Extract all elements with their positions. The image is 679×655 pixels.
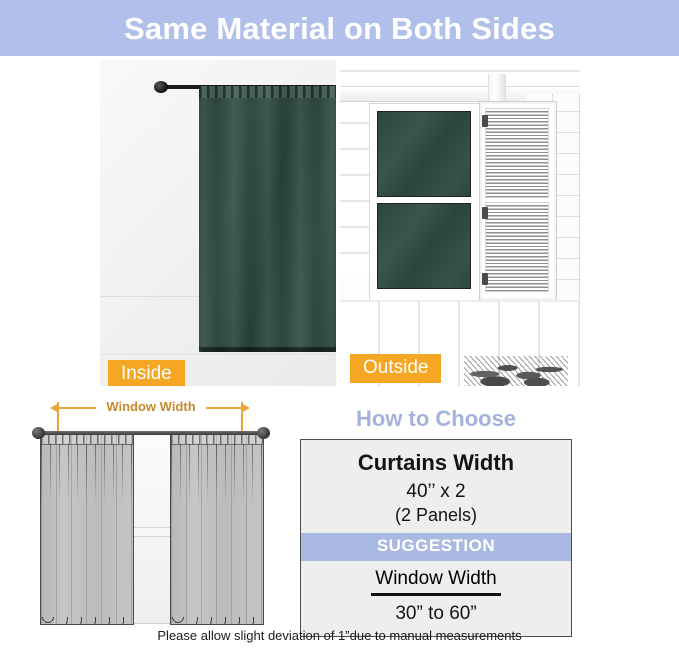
- curtain-width-diagram: Window Width: [20, 400, 282, 628]
- shrub-foliage: [464, 356, 568, 386]
- dimension-line-left: [58, 407, 96, 409]
- dimension-line-right: [206, 407, 242, 409]
- measurement-disclaimer: Please allow slight deviation of 1”due t…: [0, 628, 679, 644]
- row-suggestion-band: SUGGESTION: [301, 533, 571, 561]
- measurement-guide-row: Window Width How to Choose Curtains Widt…: [0, 390, 679, 655]
- diagram-panel-hem: [41, 617, 133, 625]
- header-banner: Same Material on Both Sides: [0, 0, 679, 56]
- diagram-panel-hem: [171, 617, 263, 625]
- dimension-arrow-right-icon: [241, 403, 250, 413]
- diagram-curtain-panel-left: [40, 433, 134, 625]
- window-pane-top: [377, 111, 471, 197]
- size-guide-table: Curtains Width 40’’ x 2 (2 Panels) SUGGE…: [300, 439, 572, 637]
- page-title: Same Material on Both Sides: [124, 13, 555, 44]
- dimension-arrow-left-icon: [50, 403, 59, 413]
- row-curtains-width-value: 40’’ x 2: [301, 479, 571, 504]
- badge-outside: Outside: [350, 354, 441, 383]
- row-panel-count: (2 Panels): [301, 504, 571, 531]
- row-window-width-label: Window Width: [371, 568, 500, 596]
- diagram-finial-left-icon: [32, 427, 45, 439]
- shutter-hinge-icon: [482, 115, 488, 127]
- how-to-choose-title: How to Choose: [300, 406, 572, 432]
- wall-seam-lower: [100, 354, 336, 355]
- shutter-leaf-bottom: [485, 202, 549, 292]
- diagram-fold-lines: [171, 444, 263, 504]
- shutter-hinge-icon: [482, 273, 488, 285]
- window-frame: [370, 104, 480, 300]
- curtain-rod-pocket: [199, 86, 336, 98]
- diagram-finial-right-icon: [257, 427, 270, 439]
- diagram-curtain-panel-right: [170, 433, 264, 625]
- row-window-width-wrapper: Window Width: [301, 564, 571, 596]
- how-to-choose-block: How to Choose Curtains Width 40’’ x 2 (2…: [300, 406, 572, 637]
- badge-inside: Inside: [108, 360, 185, 386]
- green-curtain-panel: [199, 86, 336, 352]
- shutter-leaf-top: [485, 108, 549, 198]
- photo-comparison-row: Inside Outside: [0, 56, 679, 386]
- shutter-hinge-icon: [482, 207, 488, 219]
- photo-outside-view: Outside: [340, 60, 580, 386]
- rod-finial-icon: [154, 81, 168, 93]
- diagram-curtain-rod: [38, 431, 264, 435]
- window-pane-bottom: [377, 203, 471, 289]
- curtain-hem: [199, 347, 336, 352]
- row-curtains-width-label: Curtains Width: [301, 447, 571, 479]
- louvered-shutter: [480, 102, 556, 300]
- diagram-fold-lines: [41, 444, 133, 504]
- row-window-width-range: 30” to 60”: [301, 596, 571, 627]
- photo-inside-view: Inside: [100, 60, 336, 386]
